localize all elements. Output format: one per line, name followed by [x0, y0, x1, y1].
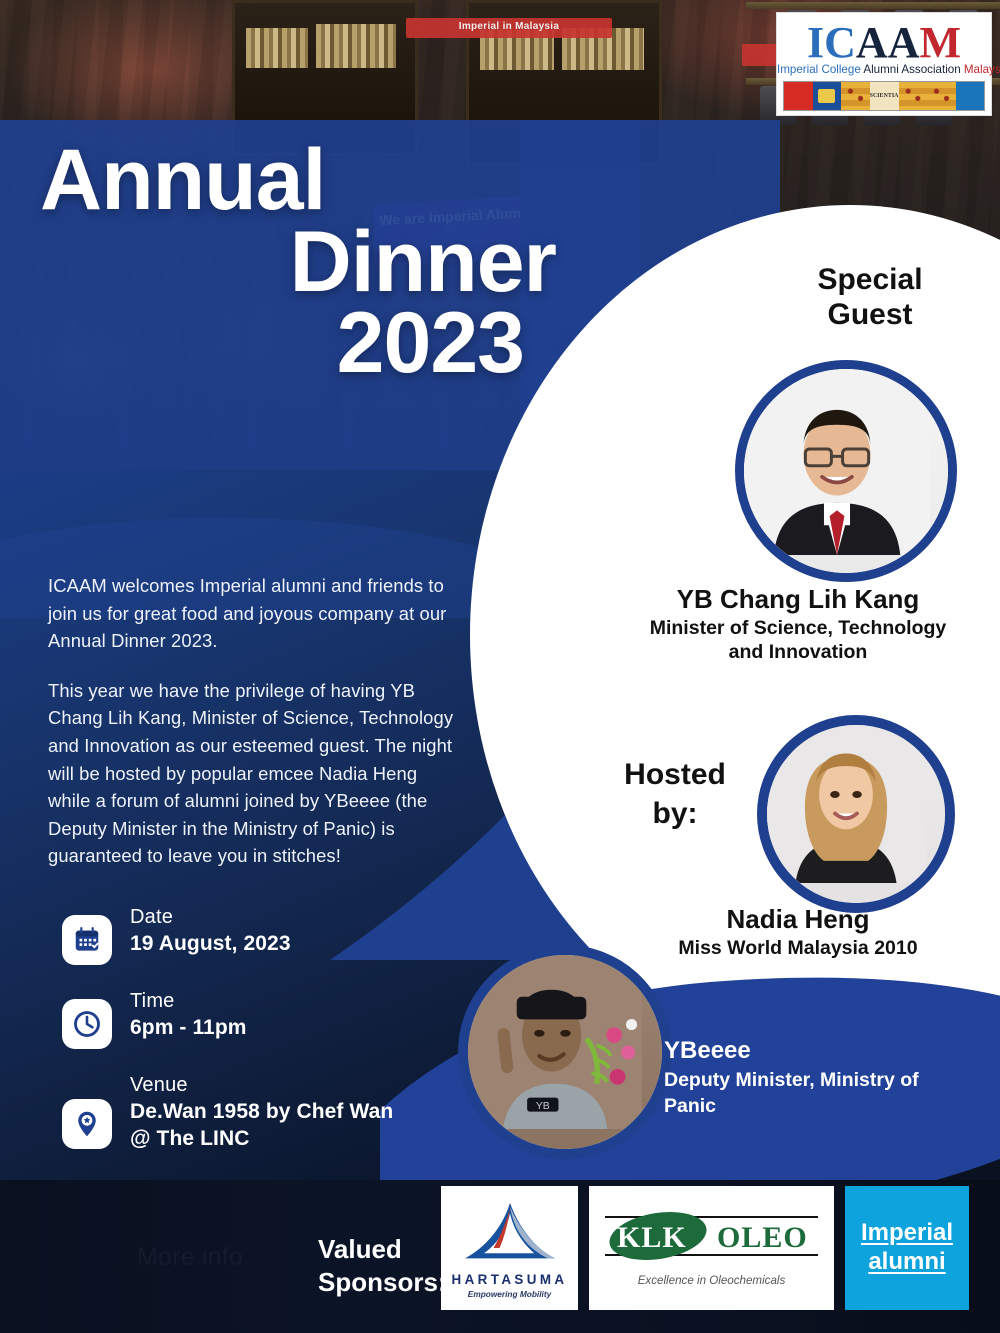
- crest-panel-blue: [956, 82, 985, 110]
- sponsors-label-line-1: Valued: [318, 1233, 447, 1266]
- detail-label-date: Date: [130, 905, 291, 930]
- hosted-by-heading-line-1: Hosted: [600, 755, 750, 794]
- detail-row-venue: Venue De.Wan 1958 by Chef Wan @ The LINC: [62, 1073, 393, 1153]
- host-name: Nadia Heng: [600, 903, 996, 936]
- host-avatar: [757, 715, 955, 913]
- special-guest-title-line-1: Minister of Science, Technology: [600, 616, 996, 640]
- icaam-letter-m: M: [919, 23, 961, 63]
- hartasuma-tagline: Empowering Mobility: [441, 1290, 578, 1298]
- calendar-icon: [62, 915, 112, 965]
- crest-panel-lions-left: [841, 82, 870, 110]
- hosted-by-heading-line-2: by:: [600, 794, 750, 833]
- ybeeee-name: YBeeee: [664, 1035, 964, 1066]
- banner-text: Imperial in Malaysia: [406, 18, 612, 32]
- ybeeee-badge-text: YB: [536, 1101, 550, 1112]
- klk-tagline: Excellence in Oleochemicals: [589, 1275, 834, 1287]
- crest-panel-scientia: SCIENTIA: [870, 82, 899, 110]
- detail-value-date: 19 August, 2023: [130, 930, 291, 957]
- ybeeee-avatar: YB: [458, 945, 672, 1159]
- ybeeee-title-line-1: Deputy Minister, Ministry of: [664, 1068, 964, 1093]
- detail-row-time: Time 6pm - 11pm: [62, 989, 393, 1049]
- special-guest-name: YB Chang Lih Kang: [600, 583, 996, 616]
- detail-value-venue-2: @ The LINC: [130, 1125, 393, 1152]
- klk-wordmark: KLK: [617, 1221, 687, 1255]
- icaam-subtitle-part-3: Malaysia: [964, 63, 1000, 76]
- detail-row-date: Date 19 August, 2023: [62, 905, 393, 965]
- icaam-letter-i: I: [807, 23, 824, 63]
- icaam-letter-c: C: [824, 23, 856, 63]
- imperial-alumni-line-1: Imperial: [861, 1219, 953, 1248]
- hartasuma-wordmark: HARTASUMA: [441, 1273, 578, 1286]
- special-guest-portrait: [744, 369, 948, 573]
- page-title: Annual Dinner 2023: [40, 140, 560, 385]
- more-info-text[interactable]: More info: [137, 1243, 243, 1272]
- book-row-decor: [316, 24, 396, 68]
- special-guest-name-block: YB Chang Lih Kang Minister of Science, T…: [600, 583, 996, 664]
- crest-panel-lions-mid: [899, 82, 928, 110]
- ybeeee-name-block: YBeeee Deputy Minister, Ministry of Pani…: [664, 1035, 964, 1119]
- ybeeee-title-line-2: Panic: [664, 1094, 964, 1119]
- icaam-letter-a1: A: [856, 23, 888, 63]
- detail-value-venue: De.Wan 1958 by Chef Wan: [130, 1098, 393, 1125]
- special-guest-title-line-2: and Innovation: [600, 640, 996, 664]
- hosted-by-heading: Hosted by:: [600, 755, 750, 833]
- host-portrait: [767, 725, 945, 903]
- sponsor-logo-imperial-alumni[interactable]: Imperial alumni: [845, 1186, 969, 1310]
- sponsors-label: Valued Sponsors:: [318, 1233, 447, 1298]
- imperial-alumni-line-2: alumni: [861, 1248, 953, 1277]
- special-guest-heading-line-1: Special: [770, 262, 970, 297]
- shelf-decor: [746, 2, 1000, 9]
- crest-panel-book: [813, 82, 842, 110]
- detail-label-time: Time: [130, 989, 247, 1014]
- oleo-wordmark: OLEO: [717, 1221, 808, 1255]
- icaam-subtitle-part-2: Alumni Association: [863, 63, 964, 76]
- crest-panel-red: [784, 82, 813, 110]
- title-line-2: Dinner: [40, 222, 560, 304]
- title-line-3: 2023: [40, 303, 560, 385]
- sponsor-logo-hartasuma[interactable]: HARTASUMA Empowering Mobility: [441, 1186, 578, 1310]
- event-poster: Imperial in Malaysia Imperial in Malaysi…: [0, 0, 1000, 1333]
- icaam-crest: SCIENTIA: [783, 81, 985, 111]
- event-details-list: Date 19 August, 2023 Time 6pm - 11pm: [62, 905, 393, 1177]
- detail-label-venue: Venue: [130, 1073, 393, 1098]
- ybeeee-portrait: YB: [468, 955, 662, 1149]
- intro-text: ICAAM welcomes Imperial alumni and frien…: [48, 572, 463, 892]
- special-guest-avatar: [735, 360, 957, 582]
- icaam-logo[interactable]: I C A A M Imperial College Alumni Associ…: [776, 12, 992, 116]
- imperial-alumni-wordmark: Imperial alumni: [861, 1219, 953, 1277]
- special-guest-heading: Special Guest: [770, 262, 970, 332]
- clock-icon: [62, 999, 112, 1049]
- icaam-subtitle: Imperial College Alumni Association Mala…: [777, 64, 991, 76]
- imperial-in-malaysia-banner: Imperial in Malaysia: [406, 18, 612, 38]
- title-line-1: Annual: [40, 140, 560, 222]
- detail-text-venue: Venue De.Wan 1958 by Chef Wan @ The LINC: [130, 1073, 393, 1153]
- crest-panel-lions-right: [927, 82, 956, 110]
- intro-paragraph-2: This year we have the privilege of havin…: [48, 677, 463, 870]
- sponsors-label-line-2: Sponsors:: [318, 1266, 447, 1299]
- special-guest-heading-line-2: Guest: [770, 297, 970, 332]
- crest-motto: SCIENTIA: [870, 93, 899, 99]
- sponsor-logo-klk-oleo[interactable]: KLK OLEO Excellence in Oleochemicals: [589, 1186, 834, 1310]
- icaam-subtitle-part-1: Imperial College: [777, 63, 863, 76]
- host-name-block: Nadia Heng Miss World Malaysia 2010: [600, 903, 996, 960]
- icaam-lettermark: I C A A M: [777, 13, 991, 63]
- detail-text-date: Date 19 August, 2023: [130, 905, 291, 957]
- book-row-decor: [246, 28, 308, 68]
- hartasuma-mark: [458, 1198, 562, 1272]
- icaam-letter-a2: A: [888, 23, 920, 63]
- detail-text-time: Time 6pm - 11pm: [130, 989, 247, 1041]
- intro-paragraph-1: ICAAM welcomes Imperial alumni and frien…: [48, 572, 463, 655]
- location-pin-icon: [62, 1099, 112, 1149]
- detail-value-time: 6pm - 11pm: [130, 1014, 247, 1041]
